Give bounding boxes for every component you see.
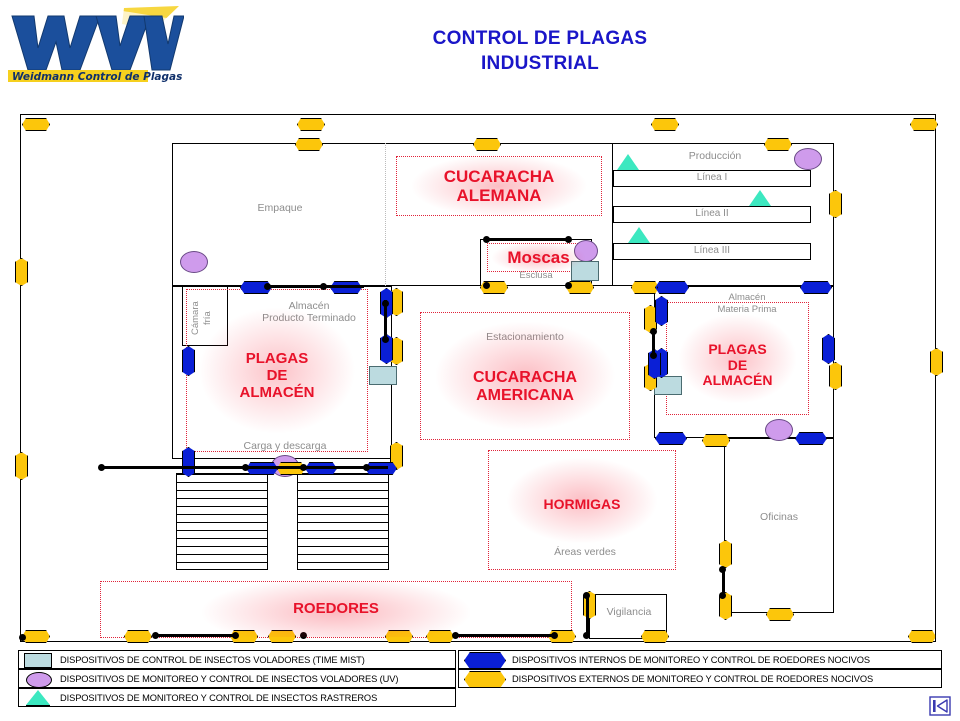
title-line-1: CONTROL DE PLAGAS (300, 26, 780, 51)
wire-node (320, 283, 327, 290)
legend-label-external: DISPOSITIVOS EXTERNOS DE MONITOREO Y CON… (512, 674, 873, 684)
external-hex-icon[interactable] (829, 190, 842, 218)
external-hex-icon[interactable] (385, 630, 413, 643)
external-hex-icon[interactable] (124, 630, 152, 643)
uv-ellipse-icon (26, 672, 52, 688)
timemist-box-icon (24, 653, 52, 668)
external-hex-icon (464, 671, 506, 688)
label-empaque: Empaque (200, 202, 360, 214)
internal-hex-icon[interactable] (182, 447, 195, 477)
zone-cucaracha-americana-label: CUCARACHA AMERICANA (473, 369, 577, 405)
wire-node (583, 592, 590, 599)
wire-node (650, 352, 657, 359)
zone-moscas-label: Moscas (507, 248, 569, 267)
zone-cucaracha-alemana-label: CUCARACHA ALEMANA (444, 167, 555, 205)
external-hex-icon[interactable] (22, 118, 50, 131)
crawling-triangle-base (749, 206, 771, 207)
wire-node (98, 464, 105, 471)
timemist-box-icon[interactable] (369, 366, 397, 385)
external-hex-icon[interactable] (641, 630, 669, 643)
external-hex-icon[interactable] (829, 362, 842, 390)
label-produccion: Producción (650, 150, 780, 162)
empaque-produccion-divider (385, 143, 386, 286)
internal-hex-icon[interactable] (655, 296, 668, 326)
zone-roedores-label: ROEDORES (293, 601, 379, 618)
zone-hormigas: HORMIGAS (488, 450, 676, 570)
wire-node (242, 464, 249, 471)
timemist-box-icon[interactable] (654, 376, 682, 395)
page-title: CONTROL DE PLAGAS INDUSTRIAL (300, 26, 780, 76)
internal-hex-icon[interactable] (800, 281, 832, 294)
wire-segment (268, 285, 364, 288)
production-line-2-label: Línea II (614, 207, 810, 221)
svg-text:Weidmann Control de Plagas: Weidmann Control de Plagas (12, 71, 182, 83)
wire-node (300, 632, 307, 639)
label-vigilancia: Vigilancia (595, 606, 663, 618)
room-oficinas (724, 438, 834, 613)
uv-ellipse-icon[interactable] (574, 240, 598, 262)
zone-cucaracha-alemana: CUCARACHA ALEMANA (396, 156, 602, 216)
wire-node (483, 282, 490, 289)
external-hex-icon[interactable] (473, 138, 501, 151)
wire-node (719, 592, 726, 599)
production-line-1: Línea I (613, 170, 811, 187)
wmn-logo-icon: Weidmann Control de Plagas (4, 4, 184, 94)
legend-label-timemist: DISPOSITIVOS DE CONTROL DE INSECTOS VOLA… (60, 655, 365, 665)
internal-hex-icon (464, 652, 506, 669)
zone-plagas-almacen-pt: PLAGAS DE ALMACÉN (186, 289, 368, 452)
external-hex-icon[interactable] (910, 118, 938, 131)
legend: DISPOSITIVOS DE CONTROL DE INSECTOS VOLA… (18, 650, 942, 712)
external-hex-icon[interactable] (22, 630, 50, 643)
wire-node (583, 632, 590, 639)
external-hex-icon[interactable] (15, 258, 28, 286)
zone-cucaracha-americana: CUCARACHA AMERICANA (420, 312, 630, 440)
label-oficinas: Oficinas (724, 511, 834, 523)
wire-node (19, 634, 26, 641)
production-line-3-label: Línea III (614, 244, 810, 258)
zone-hormigas-label: HORMIGAS (544, 497, 621, 513)
legend-label-crawling: DISPOSITIVOS DE MONITOREO Y CONTROL DE I… (60, 693, 377, 703)
prev-slide-button[interactable] (928, 696, 952, 716)
prev-slide-icon[interactable] (928, 696, 952, 716)
external-hex-icon[interactable] (268, 630, 296, 643)
timemist-box-icon[interactable] (571, 261, 599, 281)
crawling-triangle-base (628, 243, 650, 244)
zone-plagas-almacen-pt-label: PLAGAS DE ALMACÉN (240, 351, 315, 401)
external-hex-icon[interactable] (15, 452, 28, 480)
legend-label-uv: DISPOSITIVOS DE MONITOREO Y CONTROL DE I… (60, 674, 398, 684)
wire-node (382, 300, 389, 307)
legend-label-internal: DISPOSITIVOS INTERNOS DE MONITOREO Y CON… (512, 655, 870, 665)
uv-ellipse-icon[interactable] (180, 251, 208, 273)
wire-node (650, 328, 657, 335)
uv-ellipse-icon[interactable] (794, 148, 822, 170)
crawling-triangle-base (617, 170, 639, 171)
company-logo: Weidmann Control de Plagas (4, 4, 184, 94)
wire-segment (455, 634, 555, 637)
wire-node (382, 336, 389, 343)
wire-node (565, 236, 572, 243)
external-hex-icon[interactable] (702, 434, 730, 447)
wire-node (551, 632, 558, 639)
external-hex-icon[interactable] (719, 540, 732, 568)
dock-hatch-left (176, 473, 268, 570)
external-hex-icon[interactable] (766, 608, 794, 621)
wire-node (264, 283, 271, 290)
external-hex-icon[interactable] (651, 118, 679, 131)
wire-node (719, 566, 726, 573)
wire-node (565, 282, 572, 289)
internal-hex-icon[interactable] (657, 281, 689, 294)
zone-plagas-almacen-mp: PLAGAS DE ALMACÉN (666, 302, 809, 415)
wire-node (363, 464, 370, 471)
crawling-triangle-base (26, 705, 50, 706)
internal-hex-icon[interactable] (822, 334, 835, 364)
internal-hex-icon[interactable] (795, 432, 827, 445)
uv-ellipse-icon[interactable] (765, 419, 793, 441)
wire-segment (155, 634, 237, 637)
wire-node (483, 236, 490, 243)
wire-node (232, 632, 239, 639)
external-hex-icon[interactable] (764, 138, 792, 151)
external-hex-icon[interactable] (908, 630, 936, 643)
wire-node (152, 632, 159, 639)
slide-canvas: Weidmann Control de Plagas CONTROL DE PL… (0, 0, 960, 720)
title-line-2: INDUSTRIAL (300, 51, 780, 76)
crawling-triangle-icon[interactable] (749, 190, 771, 206)
dock-hatch-right (297, 473, 389, 570)
crawling-triangle-icon[interactable] (617, 154, 639, 170)
zone-plagas-almacen-mp-label: PLAGAS DE ALMACÉN (703, 342, 773, 389)
external-hex-icon[interactable] (631, 281, 659, 294)
external-hex-icon[interactable] (426, 630, 454, 643)
wire-node (452, 632, 459, 639)
external-hex-icon[interactable] (930, 348, 943, 376)
wire-node (300, 464, 307, 471)
production-line-2: Línea II (613, 206, 811, 223)
external-hex-icon[interactable] (295, 138, 323, 151)
internal-hex-icon[interactable] (655, 432, 687, 445)
external-hex-icon[interactable] (297, 118, 325, 131)
crawling-triangle-icon[interactable] (628, 227, 650, 243)
wire-segment (487, 238, 569, 241)
production-line-1-label: Línea I (614, 171, 810, 185)
internal-hex-icon[interactable] (182, 346, 195, 376)
production-line-3: Línea III (613, 243, 811, 260)
crawling-triangle-icon (26, 690, 50, 705)
zone-roedores: ROEDORES (100, 581, 572, 638)
